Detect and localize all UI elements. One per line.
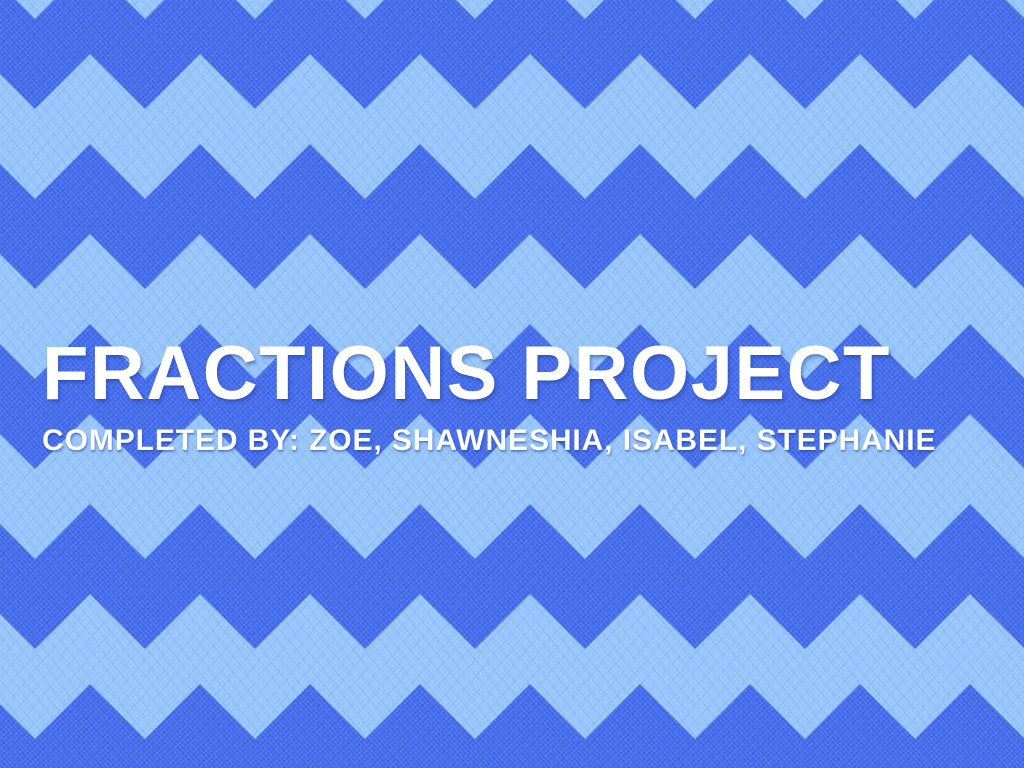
presentation-slide: FRACTIONS PROJECT COMPLETED BY: ZOE, SHA… <box>0 0 1024 768</box>
title-block: FRACTIONS PROJECT COMPLETED BY: ZOE, SHA… <box>0 336 1024 456</box>
slide-subtitle: COMPLETED BY: ZOE, SHAWNESHIA, ISABEL, S… <box>42 426 982 456</box>
slide-title: FRACTIONS PROJECT <box>42 336 982 412</box>
